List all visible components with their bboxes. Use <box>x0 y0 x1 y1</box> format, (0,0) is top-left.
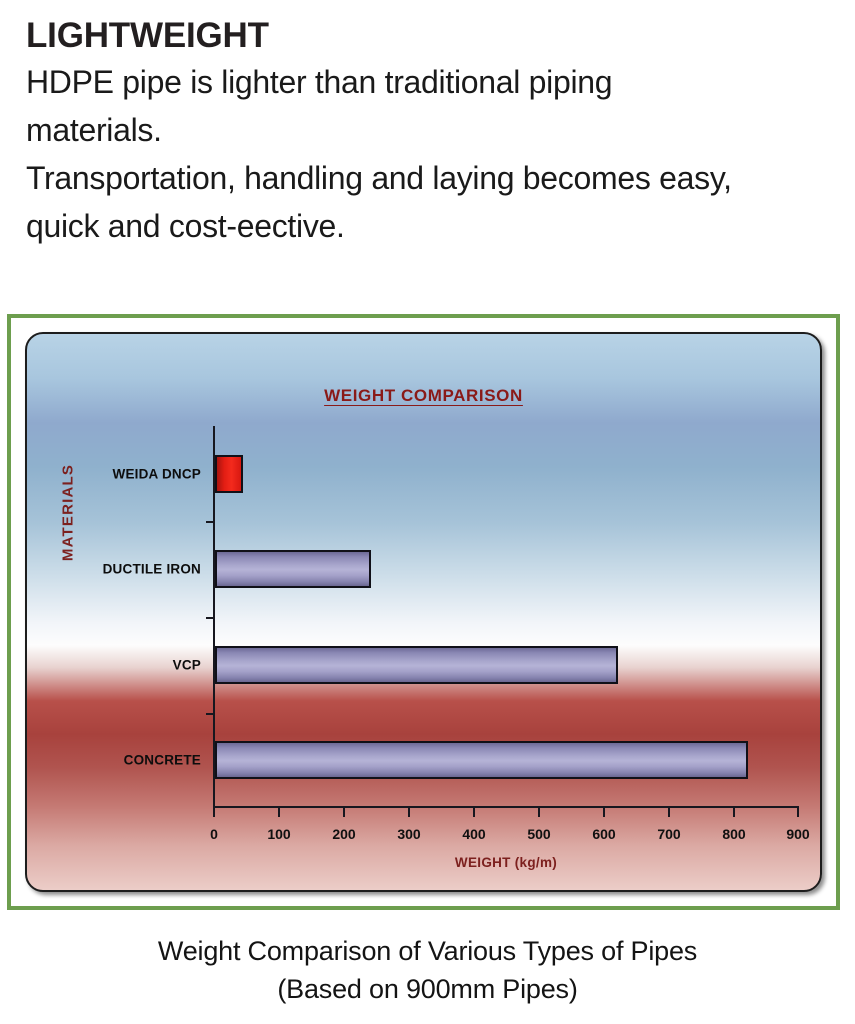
caption-line-2: (Based on 900mm Pipes) <box>0 970 855 1008</box>
headline-line-3: Transportation, handling and laying beco… <box>26 154 855 202</box>
category-label: VCP <box>173 657 201 672</box>
y-axis-tick <box>206 713 214 715</box>
headline-line-2: materials. <box>26 106 855 154</box>
x-axis-tick <box>538 808 540 817</box>
x-axis-tick <box>733 808 735 817</box>
x-axis-tick-label: 100 <box>267 826 290 842</box>
x-axis-title: WEIGHT (kg/m) <box>213 855 799 870</box>
y-axis-tick <box>206 617 214 619</box>
x-axis-tick <box>343 808 345 817</box>
x-axis-tick-label: 800 <box>722 826 745 842</box>
page-title: LIGHTWEIGHT <box>26 14 855 58</box>
x-axis-tick <box>603 808 605 817</box>
bar-ductile-iron[interactable] <box>215 550 371 588</box>
figure-frame: WEIGHT COMPARISON MATERIALS WEIDA DNCP D… <box>7 314 840 910</box>
x-axis-tick-label: 600 <box>592 826 615 842</box>
x-axis-tick-label: 900 <box>786 826 809 842</box>
bar-weida-dncp[interactable] <box>215 455 243 493</box>
x-axis-tick-label: 200 <box>332 826 355 842</box>
x-axis-tick <box>797 808 799 817</box>
x-axis-tick <box>278 808 280 817</box>
y-axis-tick <box>206 521 214 523</box>
chart-title: WEIGHT COMPARISON <box>27 386 820 406</box>
bar-concrete[interactable] <box>215 741 748 779</box>
x-axis-line <box>213 806 799 808</box>
category-label: WEIDA DNCP <box>113 466 202 481</box>
caption-line-1: Weight Comparison of Various Types of Pi… <box>0 932 855 970</box>
x-axis-tick-label: 300 <box>397 826 420 842</box>
x-axis-tick <box>668 808 670 817</box>
x-axis-tick-label: 700 <box>657 826 680 842</box>
category-label: DUCTILE IRON <box>103 562 201 577</box>
headline-block: LIGHTWEIGHT HDPE pipe is lighter than tr… <box>26 14 855 250</box>
x-axis-tick <box>473 808 475 817</box>
figure-caption: Weight Comparison of Various Types of Pi… <box>0 932 855 1008</box>
chart-panel: WEIGHT COMPARISON MATERIALS WEIDA DNCP D… <box>25 332 822 892</box>
x-axis-tick-label: 500 <box>527 826 550 842</box>
bar-vcp[interactable] <box>215 646 618 684</box>
plot-area: WEIDA DNCP DUCTILE IRON VCP CONCRETE <box>213 426 799 808</box>
y-axis-title: MATERIALS <box>60 438 77 588</box>
x-axis-tick <box>408 808 410 817</box>
x-axis-tick-label: 400 <box>462 826 485 842</box>
x-axis-tick-label: 0 <box>210 826 218 842</box>
headline-line-4: quick and cost-eective. <box>26 202 855 250</box>
headline-line-1: HDPE pipe is lighter than traditional pi… <box>26 58 855 106</box>
x-axis-tick <box>213 808 215 817</box>
category-label: CONCRETE <box>124 753 201 768</box>
